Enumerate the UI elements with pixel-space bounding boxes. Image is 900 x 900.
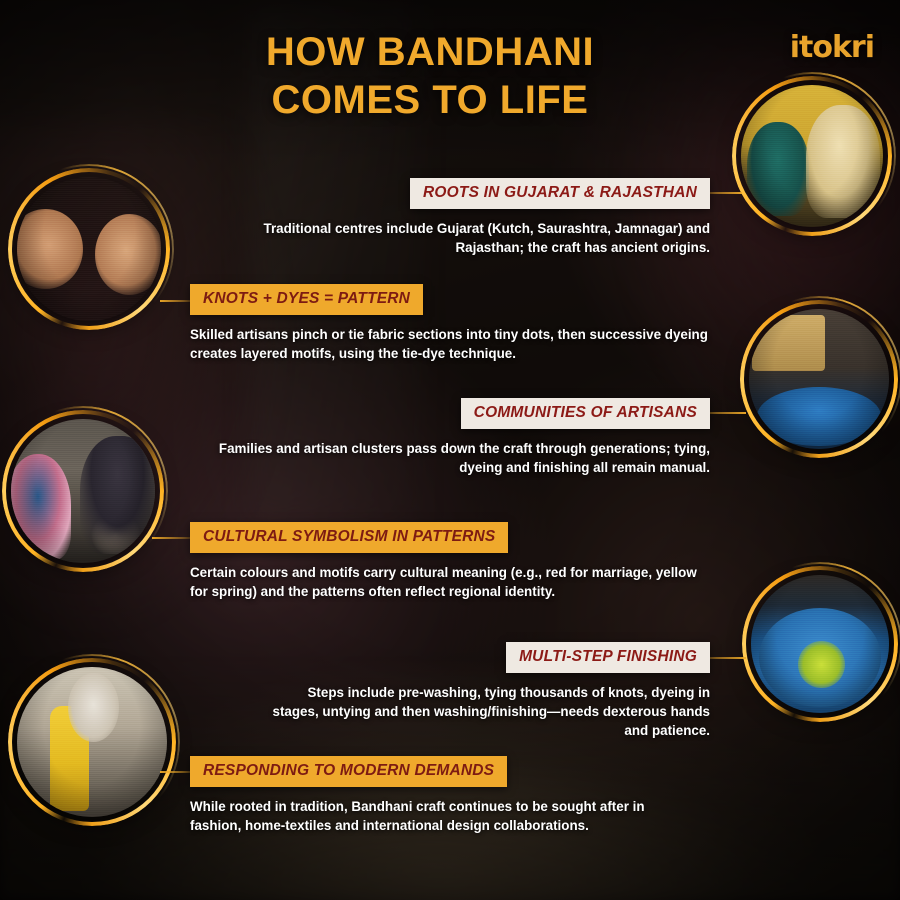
brush-ring-outer-icon <box>736 296 900 462</box>
section-header-communities: COMMUNITIES OF ARTISANS <box>461 398 710 429</box>
section-modern-demands: RESPONDING TO MODERN DEMANDS While roote… <box>190 756 690 835</box>
infographic-poster: HOW BANDHANI COMES TO LIFE itokri <box>0 0 900 900</box>
title-line-2: COMES TO LIFE <box>0 76 860 124</box>
connector-line-modern <box>160 771 192 773</box>
connector-line-knots <box>160 300 192 302</box>
section-header-knots-dyes: KNOTS + DYES = PATTERN <box>190 284 423 315</box>
section-body-knots-dyes: Skilled artisans pinch or tie fabric sec… <box>190 325 710 363</box>
section-finishing: MULTI-STEP FINISHING Steps include pre-w… <box>260 642 710 740</box>
brush-ring-outer-icon <box>0 406 168 576</box>
section-symbolism: CULTURAL SYMBOLISM IN PATTERNS Certain c… <box>190 522 710 601</box>
brush-ring-outer-icon <box>738 562 900 726</box>
photo-dyer-blue-vat <box>740 300 898 458</box>
brush-ring-outer-icon <box>4 654 180 830</box>
section-header-modern-demands: RESPONDING TO MODERN DEMANDS <box>190 756 507 787</box>
section-body-modern-demands: While rooted in tradition, Bandhani craf… <box>190 797 690 835</box>
section-header-symbolism: CULTURAL SYMBOLISM IN PATTERNS <box>190 522 508 553</box>
section-body-roots: Traditional centres include Gujarat (Kut… <box>230 219 710 257</box>
section-communities: COMMUNITIES OF ARTISANS Families and art… <box>200 398 710 477</box>
photo-blue-dye-vat <box>742 566 898 722</box>
brush-ring-outer-icon <box>4 164 174 334</box>
photo-women-grey-wall <box>2 410 164 572</box>
section-header-finishing: MULTI-STEP FINISHING <box>506 642 710 673</box>
section-header-roots: ROOTS IN GUJARAT & RAJASTHAN <box>410 178 710 209</box>
section-roots: ROOTS IN GUJARAT & RAJASTHAN Traditional… <box>230 178 710 257</box>
section-body-finishing: Steps include pre-washing, tying thousan… <box>260 683 710 740</box>
brand-logo: itokri <box>790 30 874 65</box>
photo-man-lifting-yellow-cloth <box>8 658 176 826</box>
photo-tying-red-fabric <box>8 168 170 330</box>
section-body-symbolism: Certain colours and motifs carry cultura… <box>190 563 710 601</box>
title-line-1: HOW BANDHANI <box>0 28 860 76</box>
section-body-communities: Families and artisan clusters pass down … <box>200 439 710 477</box>
page-title: HOW BANDHANI COMES TO LIFE <box>0 28 900 124</box>
section-knots-dyes: KNOTS + DYES = PATTERN Skilled artisans … <box>190 284 710 363</box>
connector-line-symbolism <box>152 537 190 539</box>
